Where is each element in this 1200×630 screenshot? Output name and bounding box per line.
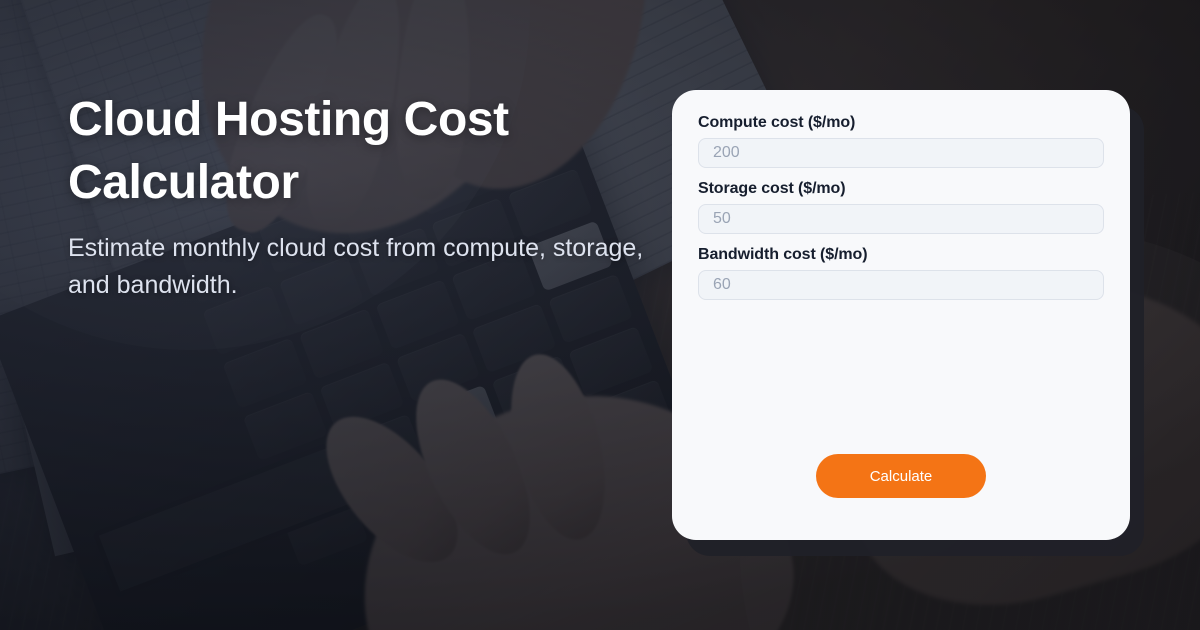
card-spacer [698,312,1104,454]
input-storage-cost[interactable] [698,204,1104,234]
field-bandwidth-cost: Bandwidth cost ($/mo) [698,246,1104,300]
page-subtitle: Estimate monthly cloud cost from compute… [68,230,668,304]
field-label-compute-cost: Compute cost ($/mo) [698,114,1104,132]
calculator-form-card: Compute cost ($/mo) Storage cost ($/mo) … [672,90,1130,540]
hero-section: Cloud Hosting Cost Calculator Estimate m… [68,88,668,304]
card-actions: Calculate [698,454,1104,540]
field-compute-cost: Compute cost ($/mo) [698,114,1104,168]
input-compute-cost[interactable] [698,138,1104,168]
field-label-bandwidth-cost: Bandwidth cost ($/mo) [698,246,1104,264]
field-label-storage-cost: Storage cost ($/mo) [698,180,1104,198]
page-title: Cloud Hosting Cost Calculator [68,88,668,214]
input-bandwidth-cost[interactable] [698,270,1104,300]
page-root: Cloud Hosting Cost Calculator Estimate m… [0,0,1200,630]
field-storage-cost: Storage cost ($/mo) [698,180,1104,234]
calculate-button[interactable]: Calculate [816,454,986,498]
